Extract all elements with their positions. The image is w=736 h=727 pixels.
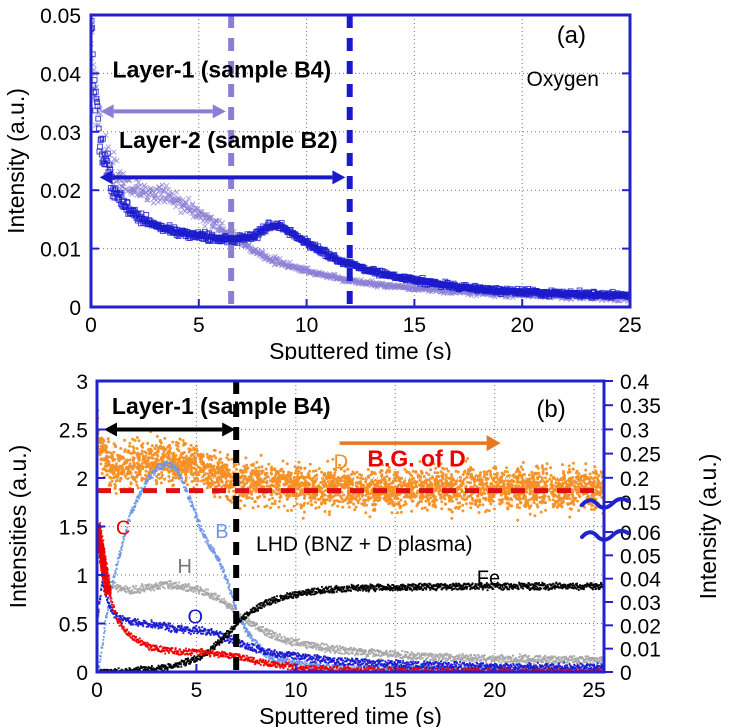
figure-container: 051015202500.010.020.030.040.05Sputtered… <box>0 0 736 727</box>
panel-a-label: (a) <box>557 22 586 49</box>
x-tick-label: 10 <box>295 314 318 337</box>
panel-a: 051015202500.010.020.030.040.05Sputtered… <box>0 0 736 360</box>
panel-b-right-axis: 0.150.20.250.30.350.400.010.020.030.040.… <box>604 371 661 685</box>
y-left-tick-label: 2 <box>76 468 88 491</box>
panel-b-ylabel-left: Intensities (a.u.) <box>5 445 31 609</box>
y-left-tick-label: 0 <box>76 662 88 685</box>
x-tick-label: 10 <box>284 679 307 702</box>
y-tick-label: 0 <box>69 297 81 320</box>
y-left-tick-label: 3 <box>76 371 88 394</box>
y-left-tick-label: 1.5 <box>59 517 88 540</box>
panel-b: 00.511.522.5305101520250.150.20.250.30.3… <box>0 360 736 727</box>
panel-b-xlabel: Sputtered time (s) <box>259 703 442 727</box>
y-right-lower-tick-label: 0.01 <box>620 639 661 662</box>
x-tick-label: 0 <box>91 679 103 702</box>
y-right-upper-tick-label: 0.3 <box>620 419 649 442</box>
layer1-label-b: Layer-1 (sample B4) <box>112 393 331 419</box>
y-right-upper-tick-label: 0.35 <box>620 395 661 418</box>
panel-a-chart: 051015202500.010.020.030.040.05Sputtered… <box>0 0 736 360</box>
x-tick-label: 5 <box>191 679 203 702</box>
y-right-upper-tick-label: 0.2 <box>620 468 649 491</box>
layer1-arrow-a <box>101 104 226 118</box>
panel-a-tick-labels: 051015202500.010.020.030.040.05 <box>40 5 642 337</box>
oxygen-label: Oxygen <box>527 68 599 91</box>
x-tick-label: 25 <box>582 679 605 702</box>
y-right-upper-tick-label: 0.15 <box>620 492 661 515</box>
y-tick-label: 0.04 <box>40 63 81 86</box>
panel-b-chart: 00.511.522.5305101520250.150.20.250.30.3… <box>0 360 736 727</box>
panel-a-ylabel: Intensity (a.u.) <box>3 88 29 234</box>
curve-label-o: O <box>187 607 203 629</box>
y-right-lower-tick-label: 0.04 <box>620 569 661 592</box>
x-tick-label: 15 <box>384 679 407 702</box>
x-tick-label: 0 <box>85 314 97 337</box>
y-right-upper-tick-label: 0.4 <box>620 371 650 394</box>
x-tick-label: 15 <box>403 314 426 337</box>
y-left-tick-label: 0.5 <box>59 614 88 637</box>
x-tick-label: 5 <box>193 314 205 337</box>
x-tick-label: 20 <box>483 679 506 702</box>
y-right-lower-tick-label: 0 <box>620 662 632 685</box>
y-tick-label: 0.03 <box>40 122 81 145</box>
x-tick-label: 20 <box>511 314 534 337</box>
layer1-label-a: Layer-1 (sample B4) <box>113 56 332 82</box>
experiment-label: LHD (BNZ + D plasma) <box>256 533 472 556</box>
y-right-lower-tick-label: 0.05 <box>620 545 661 568</box>
y-tick-label: 0.02 <box>40 180 81 203</box>
y-left-tick-label: 2.5 <box>59 420 88 443</box>
curve-label-fe: Fe <box>477 568 500 590</box>
y-left-tick-label: 1 <box>76 565 88 588</box>
bg-of-d-label: B.G. of D <box>367 445 465 471</box>
layer2-label-a: Layer-2 (sample B2) <box>119 127 338 153</box>
panel-b-ylabel-right: Intensity (a.u.) <box>695 454 721 600</box>
curve-label-c: C <box>116 517 130 539</box>
curve-label-d: D <box>334 451 348 473</box>
curve-label-h: H <box>178 556 192 578</box>
y-right-lower-tick-label: 0.02 <box>620 615 661 638</box>
layer1-arrow-b <box>104 423 235 437</box>
layer2-arrow-a <box>100 170 346 184</box>
y-tick-label: 0.01 <box>40 239 81 262</box>
x-tick-label: 25 <box>618 314 641 337</box>
y-right-upper-tick-label: 0.25 <box>620 444 661 467</box>
panel-a-xlabel: Sputtered time (s) <box>269 338 452 360</box>
panel-b-label: (b) <box>536 396 565 423</box>
curve-label-b: B <box>215 521 228 543</box>
y-right-lower-tick-label: 0.03 <box>620 592 661 615</box>
y-tick-label: 0.05 <box>40 5 81 28</box>
